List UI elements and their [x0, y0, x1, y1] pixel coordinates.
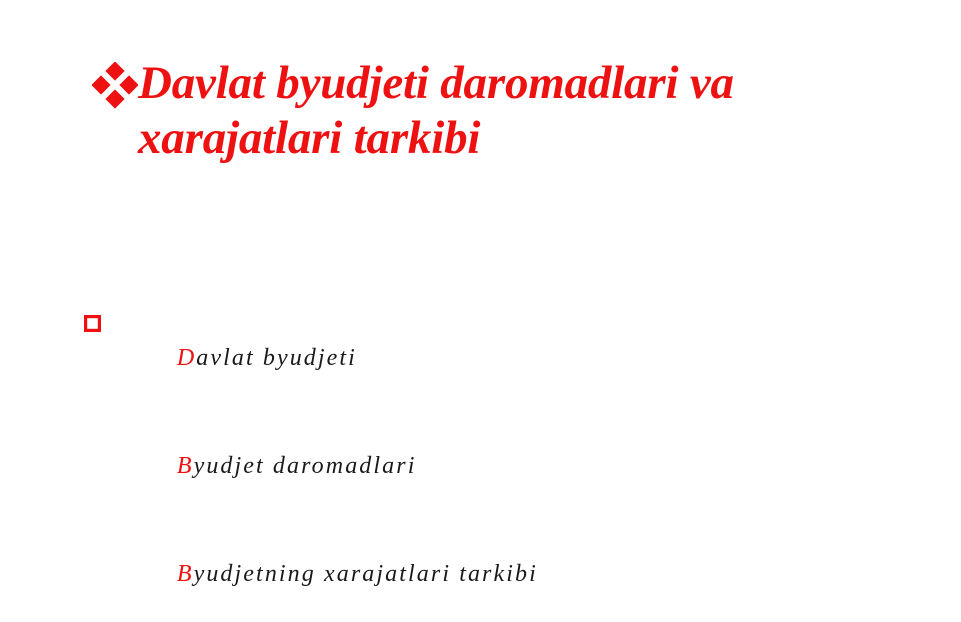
diamond-cluster-bullet-icon [92, 62, 138, 116]
list-item-initial: D [177, 345, 196, 371]
page-title: Davlat byudjeti daromadlari va xarajatla… [138, 56, 892, 166]
list-item-initial: B [177, 453, 194, 479]
list-item-text: Davlat byudjeti [112, 310, 904, 406]
list-item: Byudjetning xarajatlari tarkibi [84, 526, 904, 622]
list-item-rest: yudjetning xarajatlari tarkibi [194, 561, 538, 587]
list-item-initial: B [177, 561, 194, 587]
list-item: Byudjet daromadlari [84, 418, 904, 514]
body-list: Davlat byudjeti Byudjet daromadlari By [84, 310, 904, 622]
bullet-placeholder-icon [84, 423, 112, 453]
slide-canvas: Davlat byudjeti daromadlari va xarajatla… [0, 0, 961, 540]
list-item-text: Byudjetning xarajatlari tarkibi [112, 526, 904, 622]
list-item-rest: yudjet daromadlari [194, 453, 417, 479]
slide-title-block: Davlat byudjeti daromadlari va xarajatla… [92, 56, 892, 166]
list-item-text: Byudjet daromadlari [112, 418, 904, 514]
list-item-rest: avlat byudjeti [196, 345, 357, 371]
list-item: Davlat byudjeti [84, 310, 904, 406]
hollow-square-bullet-icon [84, 315, 112, 345]
bullet-placeholder-icon [84, 531, 112, 561]
